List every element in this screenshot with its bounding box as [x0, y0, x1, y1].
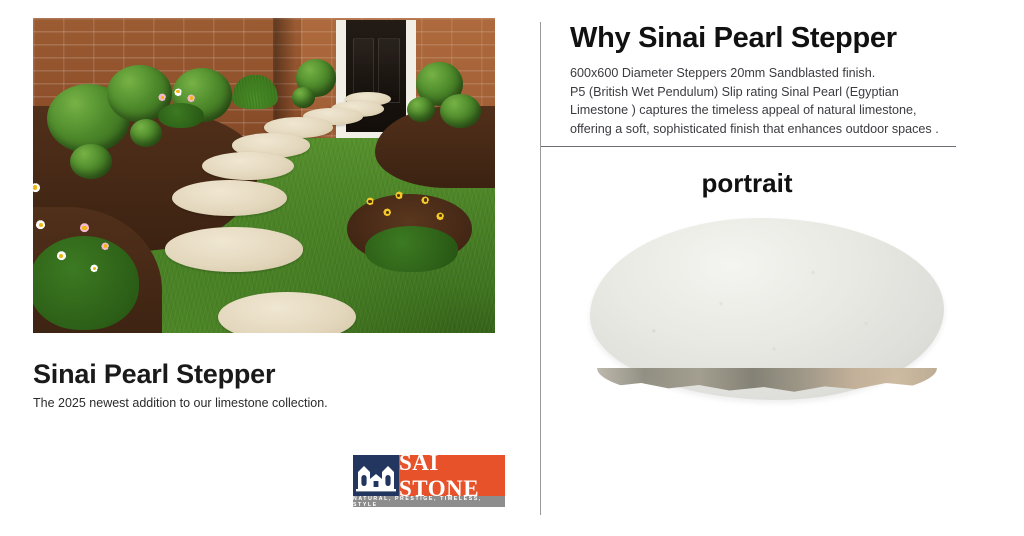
daisy-bloom: [33, 215, 51, 235]
logo-tagline: NATURAL, PRESTIGE, TIMELESS, STYLE: [353, 496, 505, 507]
why-body-text: 600x600 Diameter Steppers 20mm Sandblast…: [570, 64, 1002, 138]
stepping-stone: [218, 292, 357, 333]
black-eyed-susan-bloom: [363, 195, 377, 209]
black-eyed-susan-bloom: [434, 209, 447, 222]
portrait-label: portrait: [540, 168, 1024, 199]
product-slide: Sinai Pearl Stepper The 2025 newest addi…: [0, 0, 1024, 536]
daisy-bloom: [33, 179, 44, 197]
photo-canvas: [33, 18, 495, 333]
why-body-line: 600x600 Diameter Steppers 20mm Sandblast…: [570, 64, 1002, 83]
right-panel: Why Sinai Pearl Stepper 600x600 Diameter…: [540, 0, 1024, 536]
stepping-stone: [165, 227, 304, 271]
black-eyed-susan-clump: [356, 188, 467, 270]
sai-stone-logo[interactable]: SAI STONE NATURAL, PRESTIGE, TIMELESS, S…: [353, 455, 505, 507]
left-panel: Sinai Pearl Stepper The 2025 newest addi…: [0, 0, 540, 536]
why-body-line: offering a soft, sophisticated finish th…: [570, 120, 1002, 139]
foliage: [33, 236, 139, 330]
logo-row: SAI STONE: [353, 455, 505, 496]
foliage: [365, 226, 458, 272]
daisy-bloom: [50, 245, 72, 267]
black-eyed-susan-bloom: [381, 206, 394, 219]
daisy-bloom: [86, 260, 102, 276]
why-heading: Why Sinai Pearl Stepper: [570, 22, 897, 55]
coneflower-bloom: [74, 218, 94, 238]
daisy-clump-foreground: [33, 176, 144, 327]
coneflower-bloom: [98, 239, 112, 253]
stone-archway-icon: [353, 455, 399, 496]
why-body-line: Limestone ) captures the timeless appeal…: [570, 101, 1002, 120]
daisy-bloom: [172, 86, 184, 98]
stepping-stone: [172, 180, 288, 216]
foliage: [158, 103, 205, 129]
product-subtitle: The 2025 newest addition to our limeston…: [33, 396, 328, 410]
coneflower-bloom: [156, 91, 168, 103]
coneflower-clump-back: [153, 84, 208, 128]
coneflower-bloom: [185, 92, 197, 104]
garden-stepping-stone-path-photo: [33, 18, 495, 333]
why-body-line: P5 (British Wet Pendulum) Slip rating Si…: [570, 83, 1002, 102]
limestone-stepper-product-photo: [590, 218, 944, 400]
product-title: Sinai Pearl Stepper: [33, 359, 275, 390]
logo-wordmark: SAI STONE: [399, 455, 505, 496]
black-eyed-susan-bloom: [392, 188, 406, 202]
black-eyed-susan-bloom: [418, 193, 432, 207]
stepping-stone: [202, 152, 294, 180]
